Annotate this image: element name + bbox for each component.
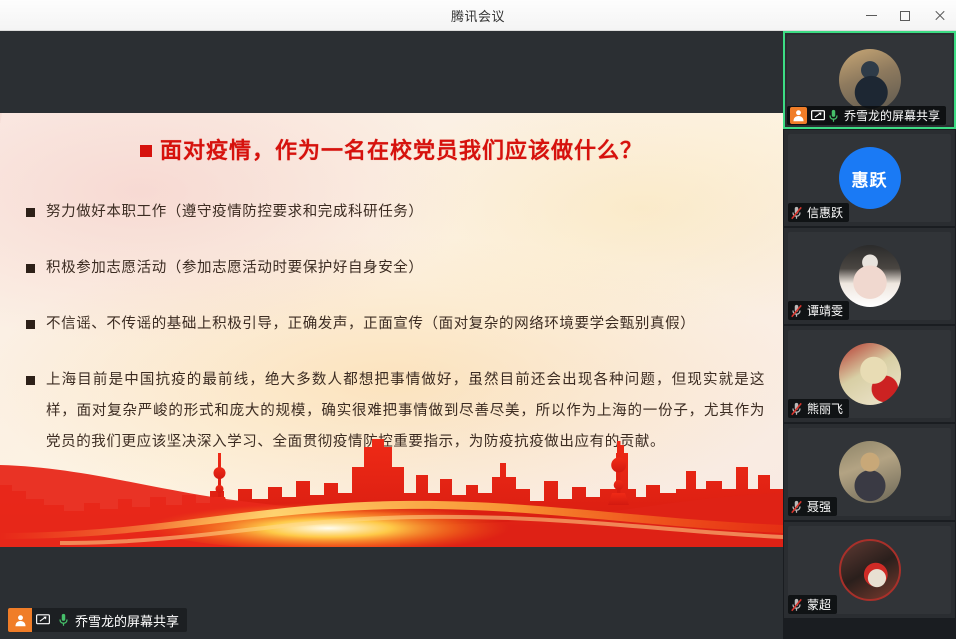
window-title: 腾讯会议 xyxy=(451,6,505,25)
participant-label-2: 谭靖雯 xyxy=(788,301,849,320)
participant-label-1: 信惠跃 xyxy=(788,203,849,222)
meeting-window: 腾讯会议 面对疫情，作为一名在校党员我们应该做什么？ 努力做好本职工作（遵 xyxy=(0,0,956,639)
slide-bullet-text: 努力做好本职工作（遵守疫情防控要求和完成科研任务） xyxy=(46,197,424,228)
participant-name: 聂强 xyxy=(805,498,831,515)
mic-off-glyph-svg xyxy=(791,500,802,514)
participant-name: 谭靖雯 xyxy=(805,302,843,319)
slide-bullet-text: 积极参加志愿活动（参加志愿活动时要保护好自身安全） xyxy=(46,253,424,284)
participant-rail[interactable]: 乔雪龙的屏幕共享 惠跃 信惠跃 xyxy=(783,31,956,639)
close-icon xyxy=(934,10,945,21)
bullet-square-icon xyxy=(26,320,35,329)
skyline-svg xyxy=(0,437,783,547)
participant-name: 蒙超 xyxy=(805,596,831,613)
slide-bullet-2: 积极参加志愿活动（参加志愿活动时要保护好自身安全） xyxy=(26,253,765,284)
mic-off-icon xyxy=(791,500,802,514)
participant-name: 熊丽飞 xyxy=(805,400,843,417)
participant-tile-3[interactable]: 熊丽飞 xyxy=(783,325,956,423)
minimize-icon xyxy=(866,15,877,16)
share-banner-name: 乔雪龙的屏幕共享 xyxy=(73,611,187,630)
mic-off-glyph-svg xyxy=(791,206,802,220)
avatar: 惠跃 xyxy=(839,147,901,209)
screen-share-icon xyxy=(811,110,825,122)
close-button[interactable] xyxy=(922,0,956,31)
participant-label-0: 乔雪龙的屏幕共享 xyxy=(787,106,946,125)
title-bar: 腾讯会议 xyxy=(0,0,956,31)
mic-off-icon xyxy=(791,598,802,612)
mic-glyph-svg xyxy=(828,109,839,123)
maximize-button[interactable] xyxy=(888,0,922,31)
participant-label-5: 蒙超 xyxy=(788,595,837,614)
avatar xyxy=(839,441,901,503)
participant-label-3: 熊丽飞 xyxy=(788,399,849,418)
bullet-square-icon xyxy=(26,264,35,273)
person-icon xyxy=(8,608,32,632)
bullet-square-icon xyxy=(140,145,152,157)
window-controls xyxy=(854,0,956,31)
participant-label-4: 聂强 xyxy=(788,497,837,516)
mic-off-glyph-svg xyxy=(791,304,802,318)
participant-name: 信惠跃 xyxy=(805,204,843,221)
participant-tile-2[interactable]: 谭靖雯 xyxy=(783,227,956,325)
participant-name: 乔雪龙的屏幕共享 xyxy=(842,107,940,124)
participant-tile-5[interactable]: 蒙超 xyxy=(783,521,956,619)
mic-on-icon xyxy=(54,613,73,627)
mic-off-icon xyxy=(791,206,802,220)
mic-off-icon xyxy=(791,402,802,416)
mic-off-glyph-svg xyxy=(791,402,802,416)
person-icon xyxy=(790,107,807,124)
bullet-square-icon xyxy=(26,376,35,385)
presentation-slide: 面对疫情，作为一名在校党员我们应该做什么？ 努力做好本职工作（遵守疫情防控要求和… xyxy=(0,113,783,547)
avatar xyxy=(839,49,901,111)
avatar xyxy=(839,539,901,601)
avatar xyxy=(839,343,901,405)
bullet-square-icon xyxy=(26,208,35,217)
mic-on-icon xyxy=(828,109,839,123)
participant-tile-1[interactable]: 惠跃 信惠跃 xyxy=(783,129,956,227)
person-glyph-svg xyxy=(14,614,27,627)
screen-share-icon xyxy=(32,614,54,626)
slide-bullet-text: 不信谣、不传谣的基础上积极引导，正确发声，正面宣传（面对复杂的网络环境要学会甄别… xyxy=(46,309,695,340)
mic-off-glyph-svg xyxy=(791,598,802,612)
maximize-icon xyxy=(900,11,910,21)
participant-tile-0[interactable]: 乔雪龙的屏幕共享 xyxy=(783,31,956,129)
participant-tile-4[interactable]: 聂强 xyxy=(783,423,956,521)
slide-bullet-1: 努力做好本职工作（遵守疫情防控要求和完成科研任务） xyxy=(26,197,765,228)
screen-share-glyph-svg xyxy=(811,110,825,122)
person-glyph-svg xyxy=(792,109,805,122)
mic-glyph-svg xyxy=(58,613,69,627)
screen-share-glyph-svg xyxy=(36,614,50,626)
minimize-button[interactable] xyxy=(854,0,888,31)
slide-bullet-3: 不信谣、不传谣的基础上积极引导，正确发声，正面宣传（面对复杂的网络环境要学会甄别… xyxy=(26,309,765,340)
slide-title: 面对疫情，作为一名在校党员我们应该做什么？ xyxy=(0,133,783,165)
screen-share-banner: 乔雪龙的屏幕共享 xyxy=(8,608,187,632)
avatar xyxy=(839,245,901,307)
mic-off-icon xyxy=(791,304,802,318)
skyline-graphic xyxy=(0,437,783,547)
slide-bullet-list: 努力做好本职工作（遵守疫情防控要求和完成科研任务） 积极参加志愿活动（参加志愿活… xyxy=(26,197,765,458)
slide-title-text: 面对疫情，作为一名在校党员我们应该做什么？ xyxy=(160,138,643,164)
shared-screen-stage[interactable]: 面对疫情，作为一名在校党员我们应该做什么？ 努力做好本职工作（遵守疫情防控要求和… xyxy=(0,31,783,639)
